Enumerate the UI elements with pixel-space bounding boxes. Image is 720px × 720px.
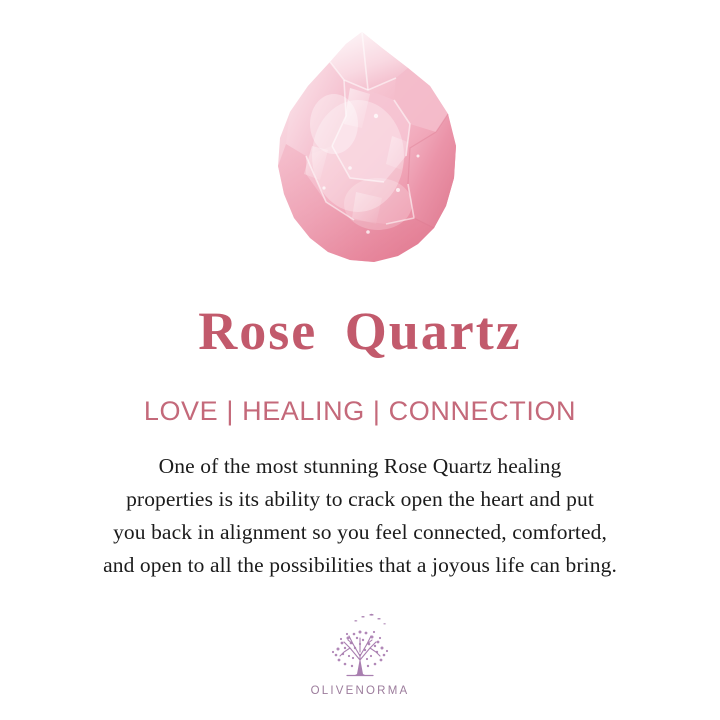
rose-quartz-crystal-image: [258, 28, 470, 272]
description-line: you back in alignment so you feel connec…: [20, 516, 700, 549]
brand-wordmark: OLIVENORMA: [0, 685, 720, 697]
hero-image-area: [0, 28, 720, 278]
tree-birds: [354, 614, 386, 625]
description-line: properties is its ability to crack open …: [20, 483, 700, 516]
description-line: One of the most stunning Rose Quartz hea…: [20, 450, 700, 483]
description-paragraph: One of the most stunning Rose Quartz hea…: [20, 450, 700, 582]
description-line: and open to all the possibilities that a…: [20, 549, 700, 582]
tree-trunk: [355, 658, 365, 675]
rose-quartz-crystal-icon: [258, 28, 470, 272]
subtitle-keywords: LOVE | HEALING | CONNECTION: [0, 396, 720, 427]
rose-quartz-info-card: Rose Quartz LOVE | HEALING | CONNECTION …: [0, 0, 720, 720]
tree-of-life-icon: [317, 612, 403, 682]
brand-logo: OLIVENORMA: [0, 612, 720, 697]
page-title: Rose Quartz: [0, 303, 720, 360]
